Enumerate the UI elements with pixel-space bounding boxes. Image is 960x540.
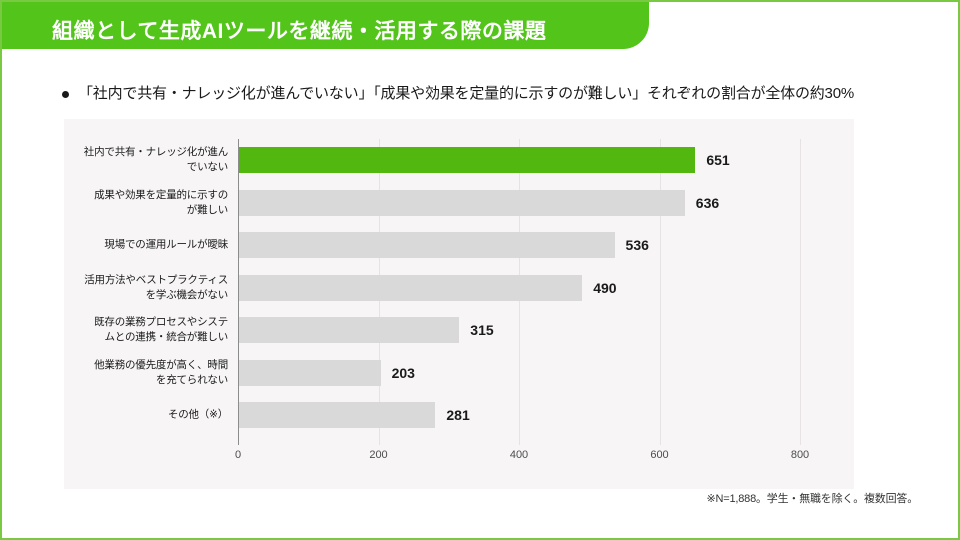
category-label: 現場での運用ルールが曖昧 xyxy=(78,238,228,253)
footnote: ※N=1,888。学生・無職を除く。複数回答。 xyxy=(706,490,918,506)
x-axis-tick-label: 600 xyxy=(650,449,668,461)
category-label: 社内で共有・ナレッジ化が進んでいない xyxy=(78,145,228,175)
chart-row: 成果や効果を定量的に示すのが難しい636 xyxy=(64,182,854,225)
bar xyxy=(238,190,685,216)
bar-value-label: 536 xyxy=(626,237,649,253)
bar xyxy=(238,232,615,258)
x-axis-tick-label: 0 xyxy=(235,449,241,461)
bar-group: 536 xyxy=(238,232,649,258)
category-label: 既存の業務プロセスやシステムとの連携・統合が難しい xyxy=(78,315,228,345)
bar-value-label: 203 xyxy=(392,365,415,381)
bullet-icon xyxy=(62,91,69,98)
category-label: その他（※） xyxy=(78,408,228,423)
bar-group: 281 xyxy=(238,402,470,428)
category-axis-line xyxy=(238,139,239,445)
category-label: 他業務の優先度が高く、時間を充てられない xyxy=(78,358,228,388)
subtitle-row: 「社内で共有・ナレッジ化が進んでいない」「成果や効果を定量的に示すのが難しい」そ… xyxy=(62,84,854,104)
chart-row: 活用方法やベストプラクティスを学ぶ機会がない490 xyxy=(64,267,854,310)
chart-row: その他（※）281 xyxy=(64,394,854,437)
bar xyxy=(238,360,381,386)
bar-value-label: 315 xyxy=(470,322,493,338)
chart-row: 現場での運用ルールが曖昧536 xyxy=(64,224,854,267)
bar-value-label: 490 xyxy=(593,280,616,296)
bar-group: 651 xyxy=(238,147,730,173)
chart-row: 社内で共有・ナレッジ化が進んでいない651 xyxy=(64,139,854,182)
bar-group: 203 xyxy=(238,360,415,386)
bar-value-label: 281 xyxy=(446,407,469,423)
chart-row: 既存の業務プロセスやシステムとの連携・統合が難しい315 xyxy=(64,309,854,352)
category-label: 成果や効果を定量的に示すのが難しい xyxy=(78,188,228,218)
bar xyxy=(238,402,435,428)
x-axis-tick-label: 800 xyxy=(791,449,809,461)
bar-group: 315 xyxy=(238,317,494,343)
slide: 組織として生成AIツールを継続・活用する際の課題 「社内で共有・ナレッジ化が進ん… xyxy=(0,0,960,540)
bar xyxy=(238,317,459,343)
bar xyxy=(238,275,582,301)
chart-panel: 社内で共有・ナレッジ化が進んでいない651成果や効果を定量的に示すのが難しい63… xyxy=(64,119,854,489)
category-label: 活用方法やベストプラクティスを学ぶ機会がない xyxy=(78,273,228,303)
bar-value-label: 636 xyxy=(696,195,719,211)
bar xyxy=(238,147,695,173)
bar-group: 490 xyxy=(238,275,617,301)
chart-row: 他業務の優先度が高く、時間を充てられない203 xyxy=(64,352,854,395)
x-axis-tick-label: 200 xyxy=(369,449,387,461)
page-title: 組織として生成AIツールを継続・活用する際の課題 xyxy=(52,15,546,45)
bar-group: 636 xyxy=(238,190,719,216)
subtitle-text: 「社内で共有・ナレッジ化が進んでいない」「成果や効果を定量的に示すのが難しい」そ… xyxy=(78,84,854,104)
bar-value-label: 651 xyxy=(706,152,729,168)
x-axis-tick-label: 400 xyxy=(510,449,528,461)
